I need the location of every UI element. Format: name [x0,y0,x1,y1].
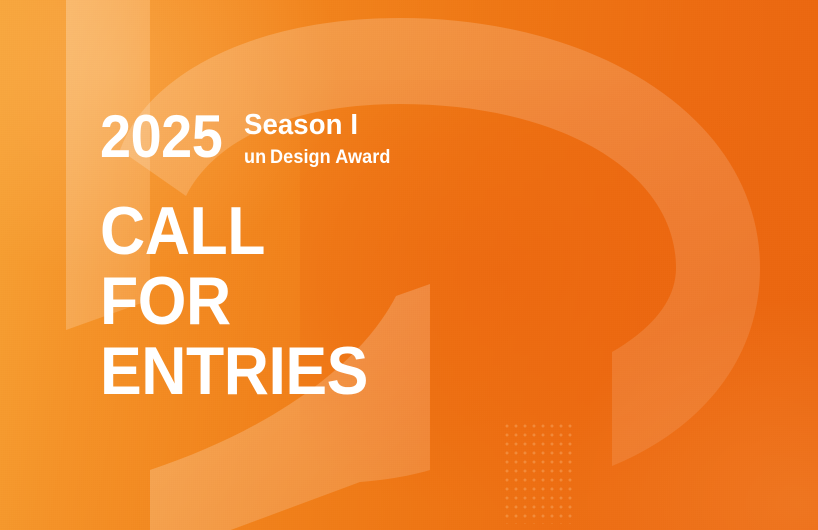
award-prefix-label: un [244,147,266,168]
banner-content: 2025 Season I unDesign Award CALL FOR EN… [100,0,760,530]
season-block: Season I unDesign Award [244,108,398,168]
award-line: unDesign Award [244,148,391,168]
award-name-label: Design Award [271,147,392,168]
season-label: Season I [244,110,391,141]
promo-banner: 2025 Season I unDesign Award CALL FOR EN… [0,0,818,530]
year-label: 2025 [100,108,222,166]
headline-line-2: FOR [100,266,368,336]
headline-line-3: ENTRIES [100,336,368,406]
headline-line-1: CALL [100,196,368,266]
headline: CALL FOR ENTRIES [100,196,368,406]
banner-topline: 2025 Season I unDesign Award [100,108,399,184]
